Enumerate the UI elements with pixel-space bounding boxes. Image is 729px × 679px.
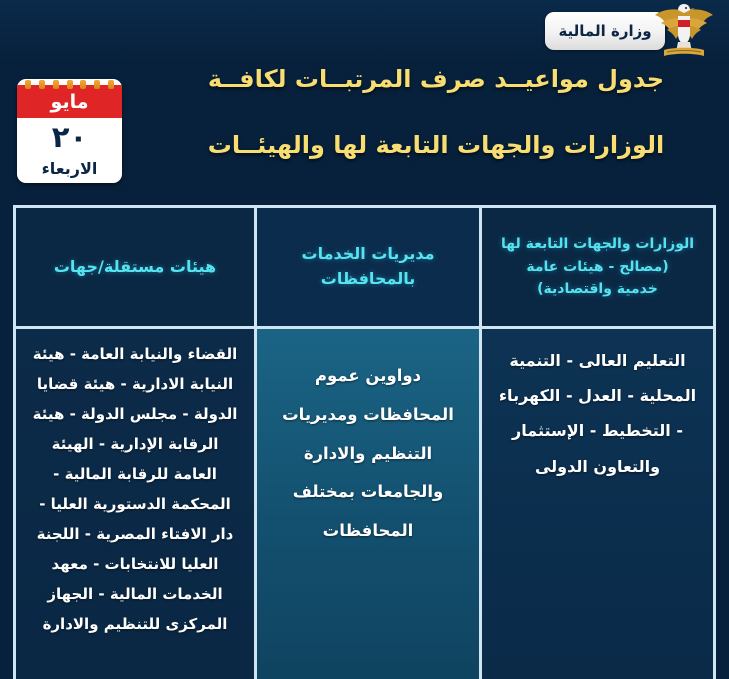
column-header-ministries: الوزارات والجهات التابعة لها (مصالح - هي…: [482, 208, 713, 326]
calendar-month: مايو: [17, 85, 122, 118]
column-header-ministries-line1: الوزارات والجهات التابعة لها: [501, 236, 694, 252]
column-body-ministries: التعليم العالى - التنمية المحلية - العدل…: [482, 326, 713, 679]
table-column-ministries: الوزارات والجهات التابعة لها (مصالح - هي…: [482, 208, 713, 679]
page-title: جدول مواعيــد صرف المرتبــات لكافــة الو…: [129, 66, 729, 159]
ministry-badge-label: وزارة المالية: [558, 22, 651, 40]
calendar-weekday: الاربعاء: [17, 157, 122, 179]
column-header-ministries-line2: (مصالح - هيئات عامة: [526, 259, 668, 275]
title-line-1: جدول مواعيــد صرف المرتبــات لكافــة: [143, 66, 729, 94]
calendar-rings: [17, 80, 122, 89]
top-banner: وزارة المالية: [0, 0, 729, 62]
column-header-ministries-line3: خدمية واقتصادية): [537, 281, 658, 297]
eagle-of-saladin-emblem: [651, 2, 717, 60]
column-header-independent: هيئات مستقلة/جهات: [16, 208, 254, 326]
column-body-independent-text: القضاء والنيابة العامة - هيئة النيابة ال…: [28, 339, 242, 679]
column-header-directorates-text: مديريات الخدمات بالمحافظات: [267, 242, 469, 292]
column-header-independent-text: هيئات مستقلة/جهات: [54, 255, 216, 280]
calendar-icon: مايو ٢٠ الاربعاء: [17, 79, 122, 183]
column-body-directorates: دواوين عموم المحافظات ومديريات التنظيم و…: [257, 326, 479, 679]
title-line-2: الوزارات والجهات التابعة لها والهيئــات: [143, 132, 729, 160]
column-body-ministries-text: التعليم العالى - التنمية المحلية - العدل…: [494, 343, 701, 679]
column-body-independent: القضاء والنيابة العامة - هيئة النيابة ال…: [16, 326, 254, 679]
salary-schedule-table: الوزارات والجهات التابعة لها (مصالح - هي…: [13, 205, 716, 679]
column-header-directorates: مديريات الخدمات بالمحافظات: [257, 208, 479, 326]
column-body-directorates-text: دواوين عموم المحافظات ومديريات التنظيم و…: [269, 357, 467, 679]
ministry-badge: وزارة المالية: [545, 12, 665, 50]
table-column-independent: هيئات مستقلة/جهات القضاء والنيابة العامة…: [16, 208, 254, 679]
table-column-directorates: مديريات الخدمات بالمحافظات دواوين عموم ا…: [254, 208, 482, 679]
calendar-day-number: ٢٠: [17, 117, 122, 157]
